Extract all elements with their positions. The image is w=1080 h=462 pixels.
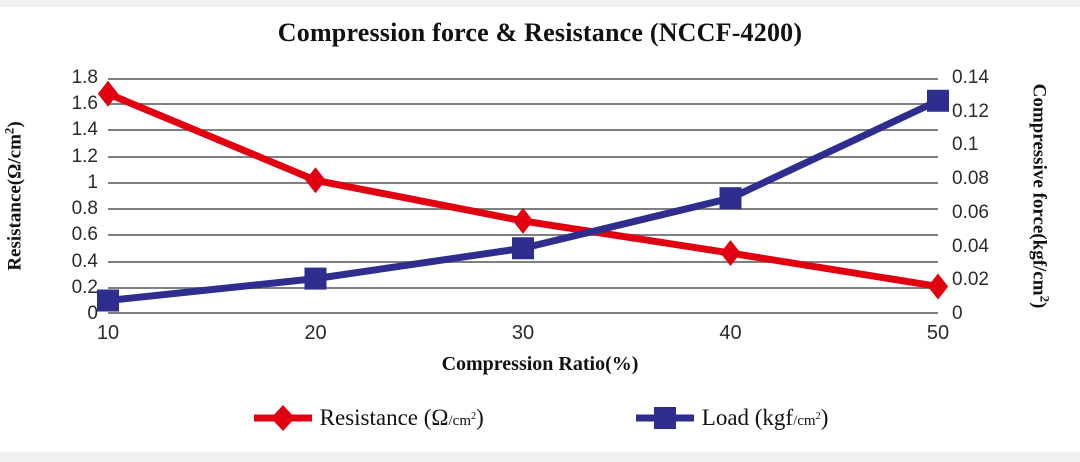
top-edge-strip [0,0,1080,7]
y-right-tick-label: 0.12 [952,101,989,123]
series-layer [108,78,938,314]
data-point-square[interactable] [720,187,742,209]
x-axis-title: Compression Ratio(%) [0,353,1080,376]
y-left-tick-label: 1 [56,172,98,194]
y-left-tick-label: 0.6 [56,224,98,246]
legend-label: Load (kgf/cm2) [702,405,829,431]
data-point-diamond[interactable] [513,208,533,234]
y-right-tick-label: 0 [952,303,963,325]
legend-item[interactable]: Load (kgf/cm2) [634,404,829,432]
data-point-diamond[interactable] [720,240,740,266]
x-tick-label: 10 [97,322,119,345]
y-left-tick-label: 0 [56,303,98,325]
bottom-edge-strip [0,452,1080,462]
legend-label: Resistance (Ω/cm2) [320,405,484,431]
x-tick-label: 50 [927,322,949,345]
y-left-tick-label: 1.6 [56,93,98,115]
data-point-diamond[interactable] [928,273,948,299]
data-point-square[interactable] [97,290,119,312]
y-left-tick-label: 1.4 [56,119,98,141]
y-axis-right-title: Compressive force(kgf/cm2) [1027,84,1052,309]
y-right-tick-label: 0.08 [952,168,989,190]
y-right-tick-label: 0.1 [952,134,978,156]
plot-area [108,78,938,314]
x-tick-label: 20 [304,322,326,345]
data-point-square[interactable] [305,268,327,290]
y-left-tick-label: 1.2 [56,146,98,168]
y-left-tick-label: 0.4 [56,251,98,273]
x-tick-label: 40 [719,322,741,345]
y-right-tick-label: 0.04 [952,236,989,258]
legend-diamond-marker-icon [252,404,314,432]
data-point-diamond[interactable] [98,81,118,107]
y-right-tick-label: 0.02 [952,269,989,291]
legend-square-marker-icon [634,404,696,432]
y-left-tick-label: 0.2 [56,277,98,299]
y-right-tick-label: 0.14 [952,67,989,89]
series-line [108,101,938,301]
y-left-tick-label: 0.8 [56,198,98,220]
x-tick-label: 30 [512,322,534,345]
chart-title: Compression force & Resistance (NCCF-420… [0,18,1080,48]
chart-legend: Resistance (Ω/cm2)Load (kgf/cm2) [0,404,1080,432]
y-axis-left-title: Resistance(Ω/cm2) [1,121,26,270]
data-point-square[interactable] [927,90,949,112]
y-right-tick-label: 0.06 [952,202,989,224]
data-point-diamond[interactable] [305,167,325,193]
data-point-square[interactable] [512,237,534,259]
legend-item[interactable]: Resistance (Ω/cm2) [252,404,484,432]
chart-container: Compression force & Resistance (NCCF-420… [0,0,1080,462]
y-left-tick-label: 1.8 [56,67,98,89]
